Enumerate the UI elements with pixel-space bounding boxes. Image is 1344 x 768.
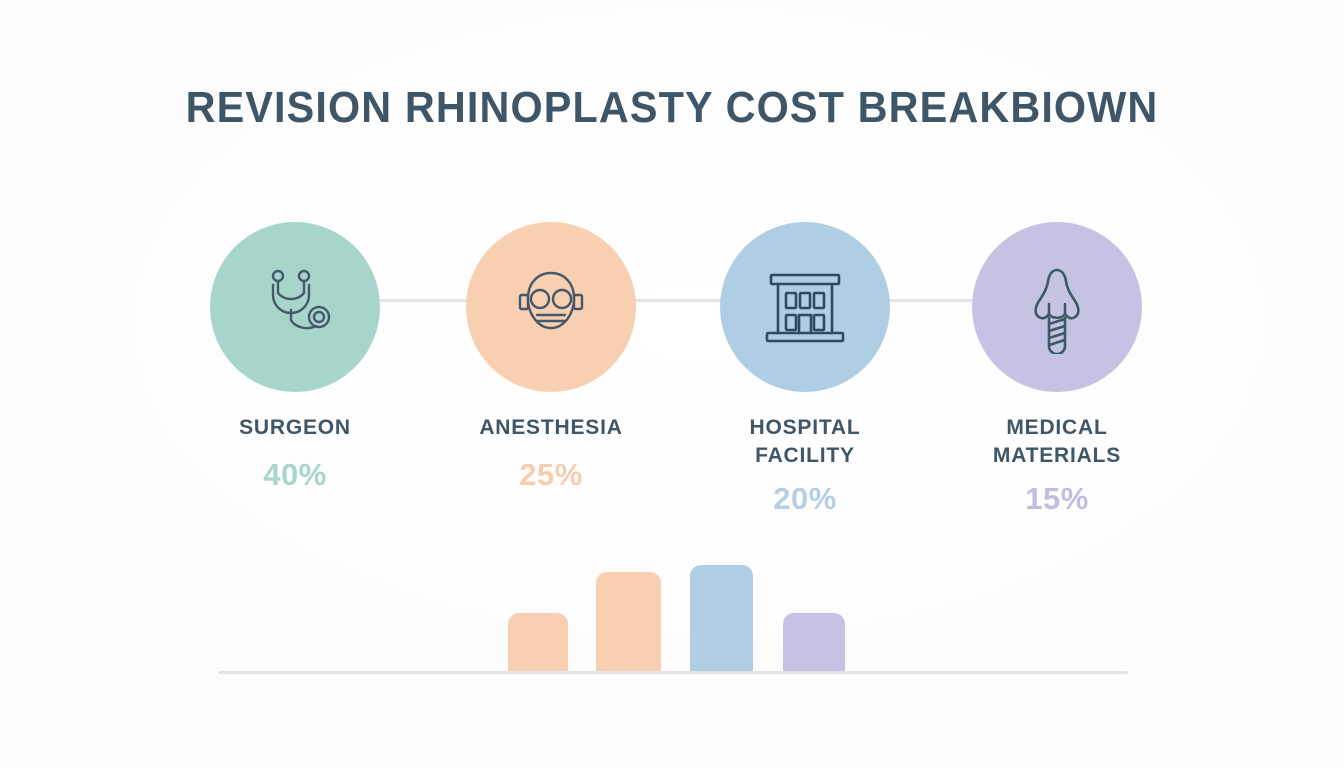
infographic-canvas: REVISION RHINOPLASTY COST BREAKBIOWN xyxy=(0,0,1344,768)
bar-surgeon xyxy=(508,613,568,671)
bar-anesthesia xyxy=(596,572,661,671)
cost-bar-chart xyxy=(0,0,1344,768)
bar-hospital-facility xyxy=(690,565,753,671)
bar-medical-materials xyxy=(783,613,845,671)
chart-baseline xyxy=(218,671,1128,674)
